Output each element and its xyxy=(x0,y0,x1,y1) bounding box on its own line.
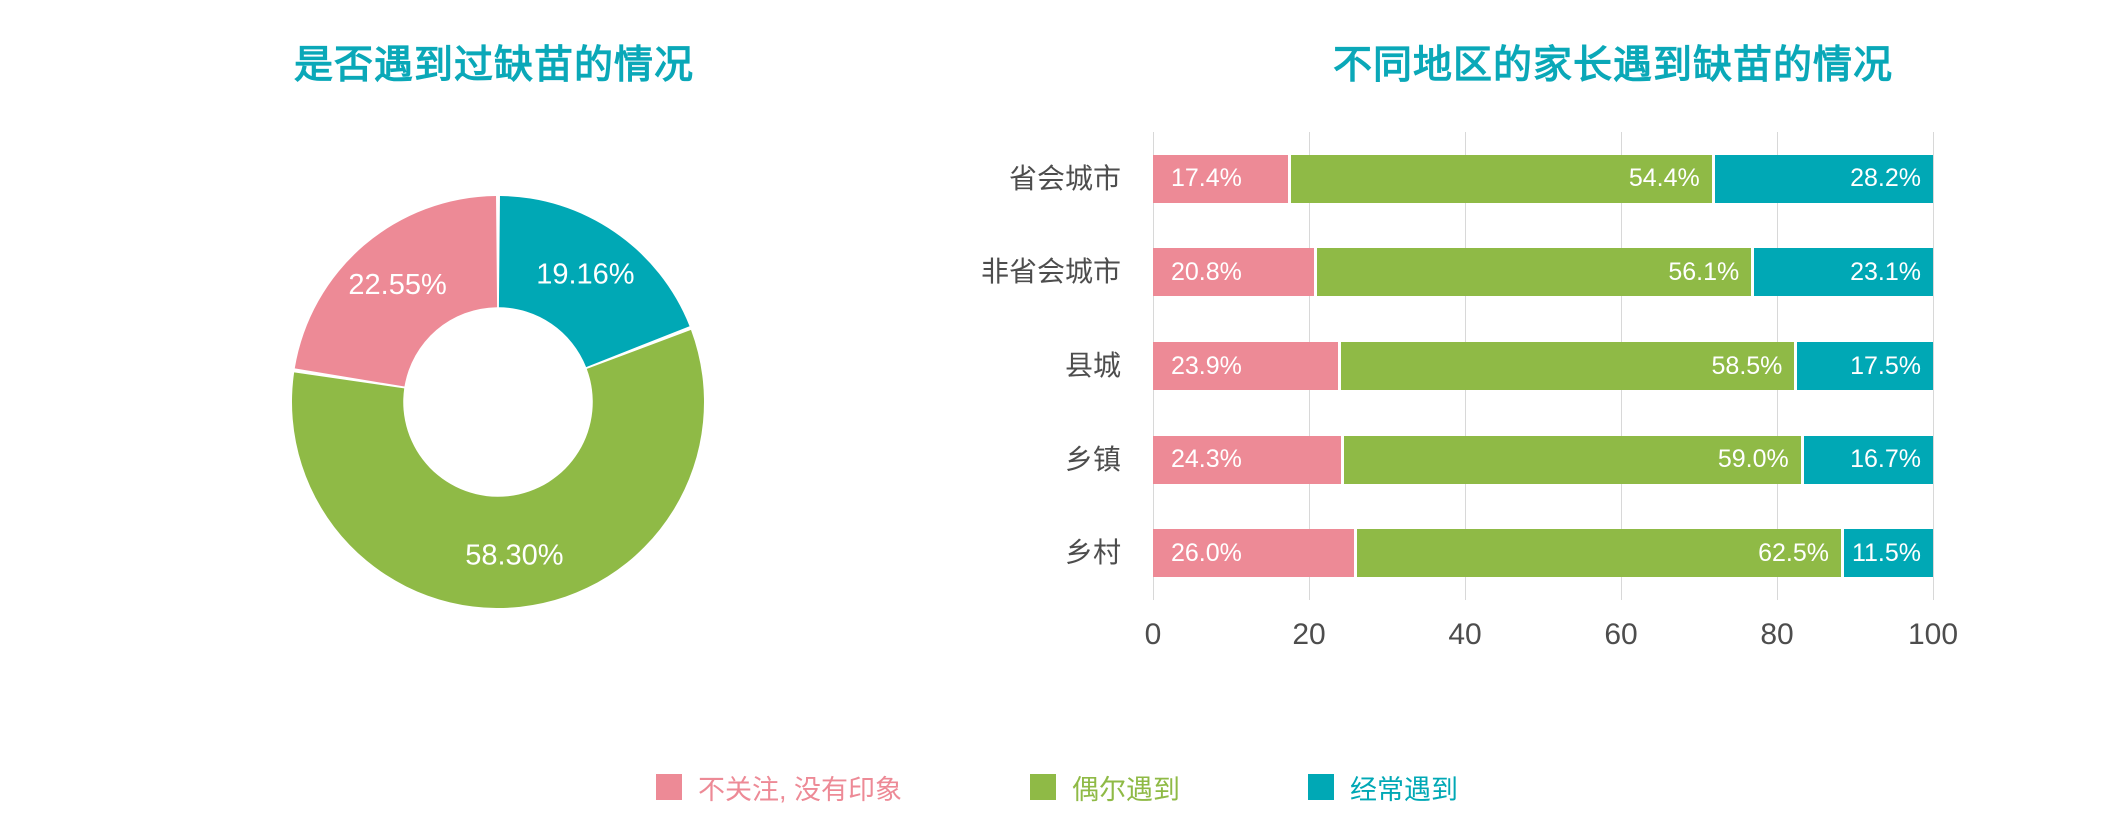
bar-segment-label: 59.0% xyxy=(1718,445,1789,474)
x-axis-tick-label: 0 xyxy=(1145,618,1162,652)
gridline xyxy=(1933,132,1934,600)
x-axis-tick-label: 60 xyxy=(1604,618,1637,652)
bar-segment[interactable]: 59.0% xyxy=(1344,436,1801,484)
bar-segment[interactable]: 16.7% xyxy=(1804,436,1933,484)
bar-segment-label: 54.4% xyxy=(1629,164,1700,193)
bar-segment-label: 24.3% xyxy=(1171,445,1242,474)
bar-category-label: 非省会城市 xyxy=(821,248,1121,296)
bar-segment-label: 58.5% xyxy=(1712,352,1783,381)
bar-segment-label: 56.1% xyxy=(1668,258,1739,287)
bar-segment[interactable]: 17.4% xyxy=(1153,155,1288,203)
legend-label: 不关注, 没有印象 xyxy=(698,768,902,807)
bar-segment[interactable]: 23.9% xyxy=(1153,342,1338,390)
bar-segment-label: 17.4% xyxy=(1171,164,1242,193)
donut-chart-title: 是否遇到过缺苗的情况 xyxy=(0,34,994,90)
bar-segment[interactable]: 26.0% xyxy=(1153,529,1354,577)
bar-segment[interactable]: 28.2% xyxy=(1715,155,1933,203)
donut-svg: 19.16%58.30%22.55% xyxy=(286,190,710,614)
legend-swatch-icon xyxy=(656,774,682,800)
legend-swatch-icon xyxy=(1308,774,1334,800)
bar-segment-label: 16.7% xyxy=(1850,445,1921,474)
bar-segment[interactable]: 23.1% xyxy=(1754,248,1933,296)
donut-slice-label: 58.30% xyxy=(465,540,563,572)
bar-segment-label: 11.5% xyxy=(1852,539,1921,568)
bar-segment[interactable]: 58.5% xyxy=(1341,342,1794,390)
donut-slice-label: 22.55% xyxy=(348,269,446,301)
bar-category-label: 乡镇 xyxy=(821,436,1121,484)
bar-segment[interactable]: 11.5% xyxy=(1844,529,1933,577)
bar-segment-label: 26.0% xyxy=(1171,539,1242,568)
x-axis-tick-label: 20 xyxy=(1292,618,1325,652)
bar-category-label: 乡村 xyxy=(821,529,1121,577)
bar-category-label: 县城 xyxy=(821,342,1121,390)
chart-page: 是否遇到过缺苗的情况 19.16%58.30%22.55% 不同地区的家长遇到缺… xyxy=(0,0,2114,828)
bar-segment[interactable]: 62.5% xyxy=(1357,529,1841,577)
bar-segment-label: 23.9% xyxy=(1171,352,1242,381)
legend-item-frequently[interactable]: 经常遇到 xyxy=(1308,768,1458,807)
legend-item-no-attention[interactable]: 不关注, 没有印象 xyxy=(656,768,902,807)
bar-chart-title: 不同地区的家长遇到缺苗的情况 xyxy=(1056,34,2114,90)
legend-label: 经常遇到 xyxy=(1350,768,1458,807)
bar-chart-plot-area: 17.4%54.4%28.2%省会城市20.8%56.1%23.1%非省会城市2… xyxy=(1153,132,1933,600)
legend-swatch-icon xyxy=(1030,774,1056,800)
bar-row: 23.9%58.5%17.5% xyxy=(1153,342,1933,390)
legend-label: 偶尔遇到 xyxy=(1072,768,1180,807)
bar-segment[interactable]: 17.5% xyxy=(1797,342,1933,390)
bar-segment-label: 28.2% xyxy=(1850,164,1921,193)
bar-segment-label: 62.5% xyxy=(1758,539,1829,568)
bar-segment-label: 23.1% xyxy=(1850,258,1921,287)
bar-segment[interactable]: 56.1% xyxy=(1317,248,1751,296)
donut-slice-label: 19.16% xyxy=(536,259,634,291)
x-axis-tick-label: 100 xyxy=(1908,618,1958,652)
x-axis-tick-label: 80 xyxy=(1760,618,1793,652)
donut-chart: 19.16%58.30%22.55% xyxy=(286,190,710,614)
x-axis-tick-label: 40 xyxy=(1448,618,1481,652)
bar-chart-panel: 不同地区的家长遇到缺苗的情况 17.4%54.4%28.2%省会城市20.8%5… xyxy=(1000,0,2114,740)
bar-segment[interactable]: 54.4% xyxy=(1291,155,1712,203)
legend-item-occasionally[interactable]: 偶尔遇到 xyxy=(1030,768,1180,807)
bar-row: 17.4%54.4%28.2% xyxy=(1153,155,1933,203)
bar-row: 20.8%56.1%23.1% xyxy=(1153,248,1933,296)
bar-row: 24.3%59.0%16.7% xyxy=(1153,436,1933,484)
chart-legend: 不关注, 没有印象偶尔遇到经常遇到 xyxy=(0,746,2114,828)
bar-segment[interactable]: 24.3% xyxy=(1153,436,1341,484)
bar-row: 26.0%62.5%11.5% xyxy=(1153,529,1933,577)
bar-segment[interactable]: 20.8% xyxy=(1153,248,1314,296)
bar-category-label: 省会城市 xyxy=(821,155,1121,203)
bar-segment-label: 20.8% xyxy=(1171,258,1242,287)
bar-segment-label: 17.5% xyxy=(1850,352,1921,381)
